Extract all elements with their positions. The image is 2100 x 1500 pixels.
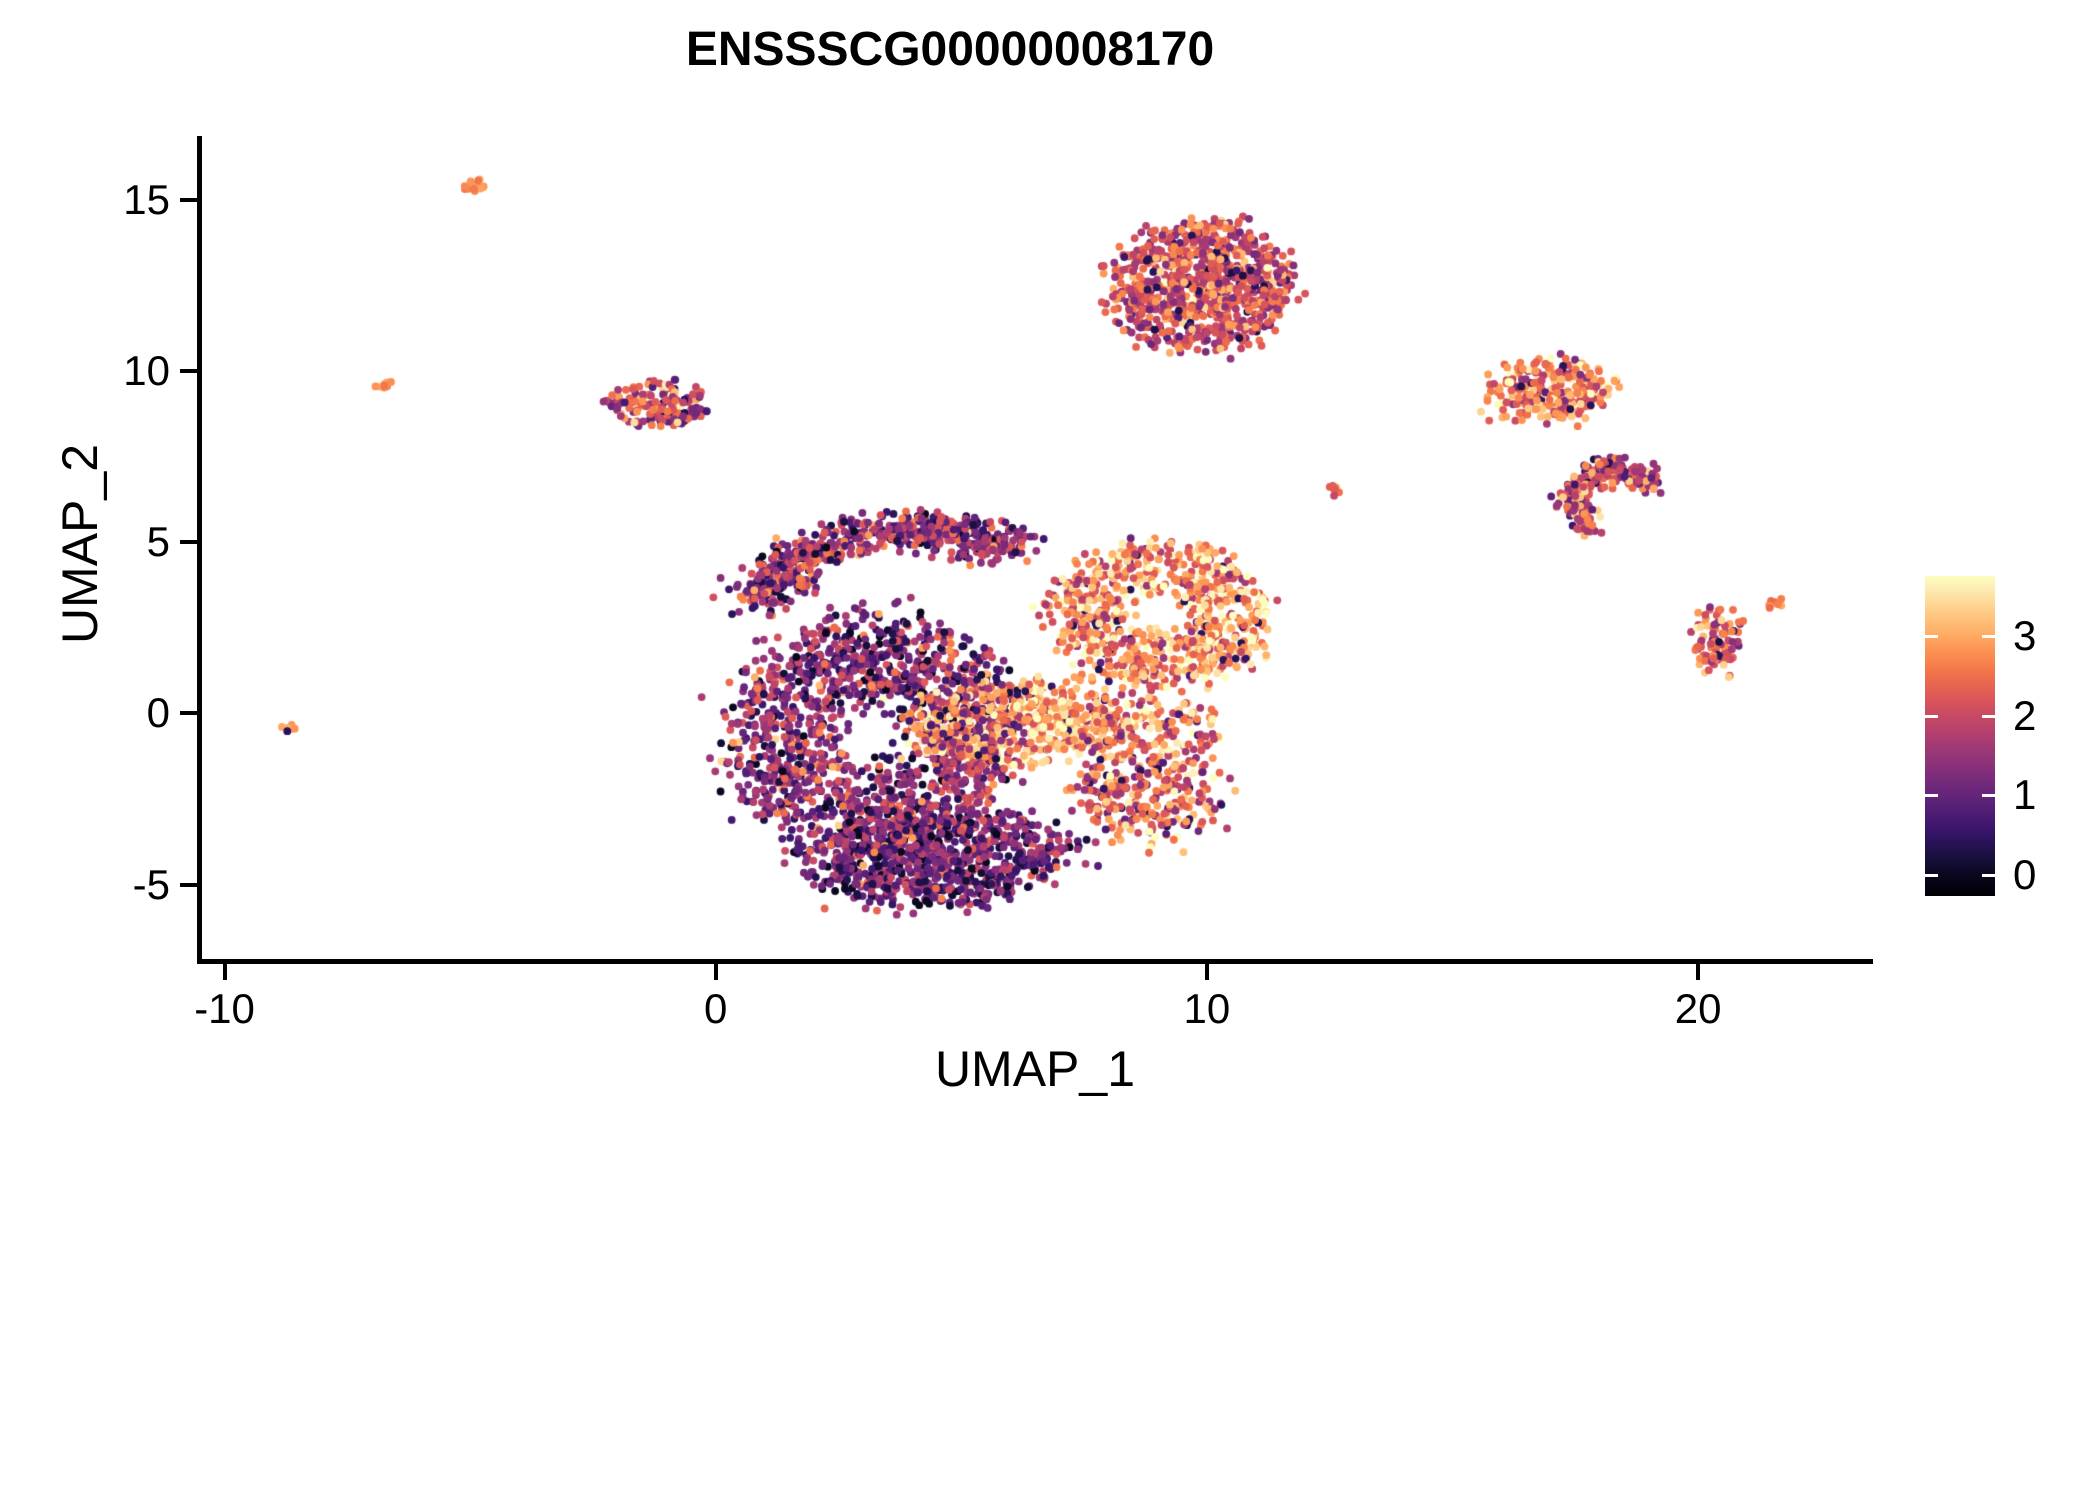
colorbar-tick-mark	[1982, 715, 1995, 718]
colorbar-tick-label: 1	[2013, 774, 2073, 816]
colorbar-gradient	[1925, 576, 1995, 896]
x-tick-label: 10	[1127, 988, 1287, 1030]
y-tick-mark	[180, 883, 197, 887]
colorbar-tick-mark	[1925, 874, 1938, 877]
colorbar-tick-mark	[1982, 635, 1995, 638]
colorbar-tick-label: 2	[2013, 695, 2073, 737]
x-tick-mark	[1205, 963, 1209, 980]
umap-feature-plot: ENSSSCG00000008170 151050-5 -1001020 UMA…	[0, 0, 2100, 1500]
colorbar-tick-mark	[1982, 874, 1995, 877]
colorbar-tick-label: 3	[2013, 615, 2073, 657]
x-tick-label: 20	[1618, 988, 1778, 1030]
y-axis-title: UMAP_2	[51, 94, 109, 994]
x-tick-mark	[223, 963, 227, 980]
x-axis-line	[197, 959, 1873, 964]
colorbar-tick-mark	[1925, 794, 1938, 797]
y-tick-mark	[180, 369, 197, 373]
color-legend: 3210	[1925, 576, 2095, 900]
y-tick-mark	[180, 540, 197, 544]
y-axis-line	[197, 136, 202, 964]
scatter-points-canvas	[200, 138, 1870, 960]
plot-panel	[200, 138, 1870, 960]
page-title: ENSSSCG00000008170	[0, 22, 1900, 77]
colorbar-tick-mark	[1982, 794, 1995, 797]
colorbar-tick-label: 0	[2013, 854, 2073, 896]
colorbar-tick-mark	[1925, 715, 1938, 718]
colorbar-tick-mark	[1925, 635, 1938, 638]
x-tick-mark	[714, 963, 718, 980]
x-tick-label: 0	[636, 988, 796, 1030]
y-tick-mark	[180, 711, 197, 715]
x-tick-mark	[1696, 963, 1700, 980]
x-tick-label: -10	[145, 988, 305, 1030]
y-tick-mark	[180, 198, 197, 202]
x-axis-title: UMAP_1	[200, 1040, 1870, 1098]
